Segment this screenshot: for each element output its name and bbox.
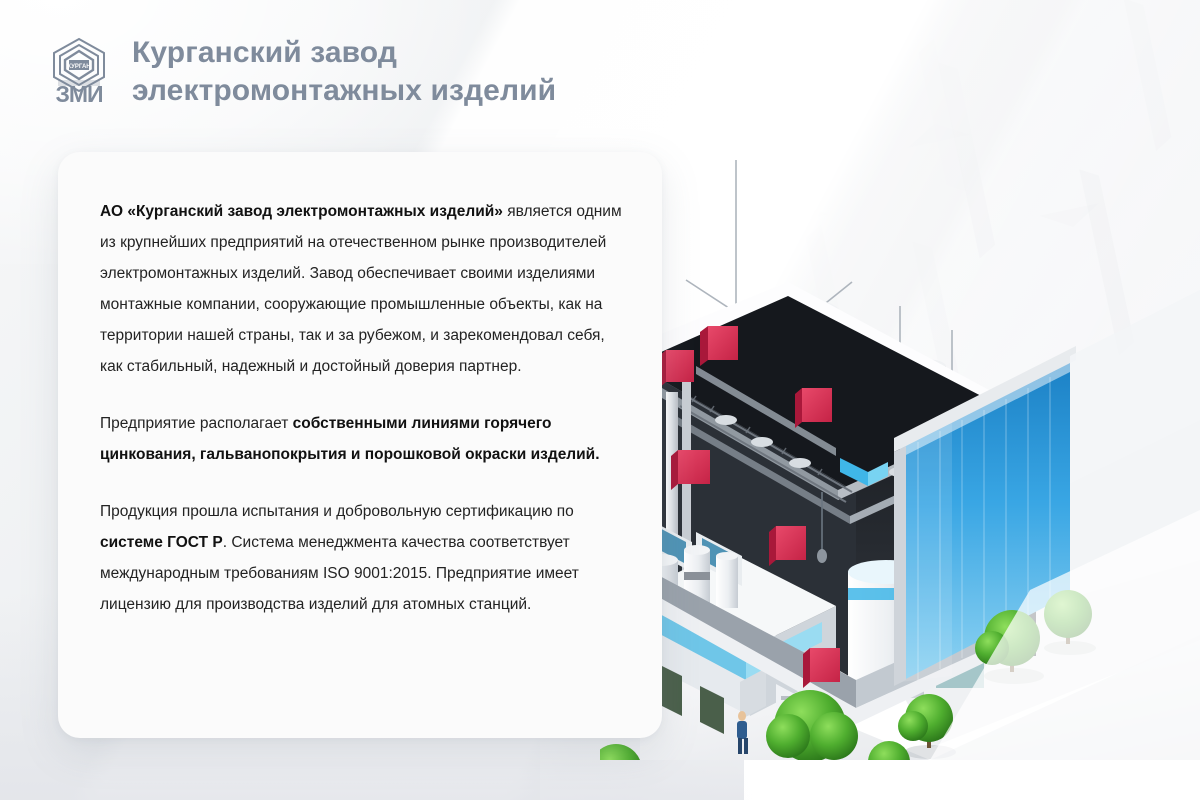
kurgan-zmi-logo-icon: КУРГАН ЗМИ	[48, 36, 110, 108]
slide-canvas: КУРГАН ЗМИ Курганский завод электромонта…	[0, 0, 1200, 800]
body-text: является одним из крупнейших предприятий…	[100, 203, 622, 375]
facility-illustration	[600, 120, 1200, 760]
logo-letters: ЗМИ	[55, 81, 102, 107]
paragraph-1: АО «Курганский завод электромонтажных из…	[100, 196, 622, 382]
company-description-card: АО «Курганский завод электромонтажных из…	[58, 152, 662, 738]
emphasis-text: АО «Курганский завод электромонтажных из…	[100, 203, 507, 220]
body-text: Продукция прошла испытания и добровольну…	[100, 503, 574, 520]
logo-inner-text: КУРГАН	[67, 64, 90, 70]
body-text: Предприятие располагает	[100, 415, 293, 432]
paragraph-3: Продукция прошла испытания и добровольну…	[100, 496, 622, 620]
paragraph-2: Предприятие располагает собственными лин…	[100, 408, 622, 470]
page-title: Курганский завод электромонтажных издели…	[132, 34, 556, 111]
page-header: КУРГАН ЗМИ Курганский завод электромонта…	[48, 34, 556, 111]
emphasis-text: системе ГОСТ Р	[100, 534, 223, 551]
